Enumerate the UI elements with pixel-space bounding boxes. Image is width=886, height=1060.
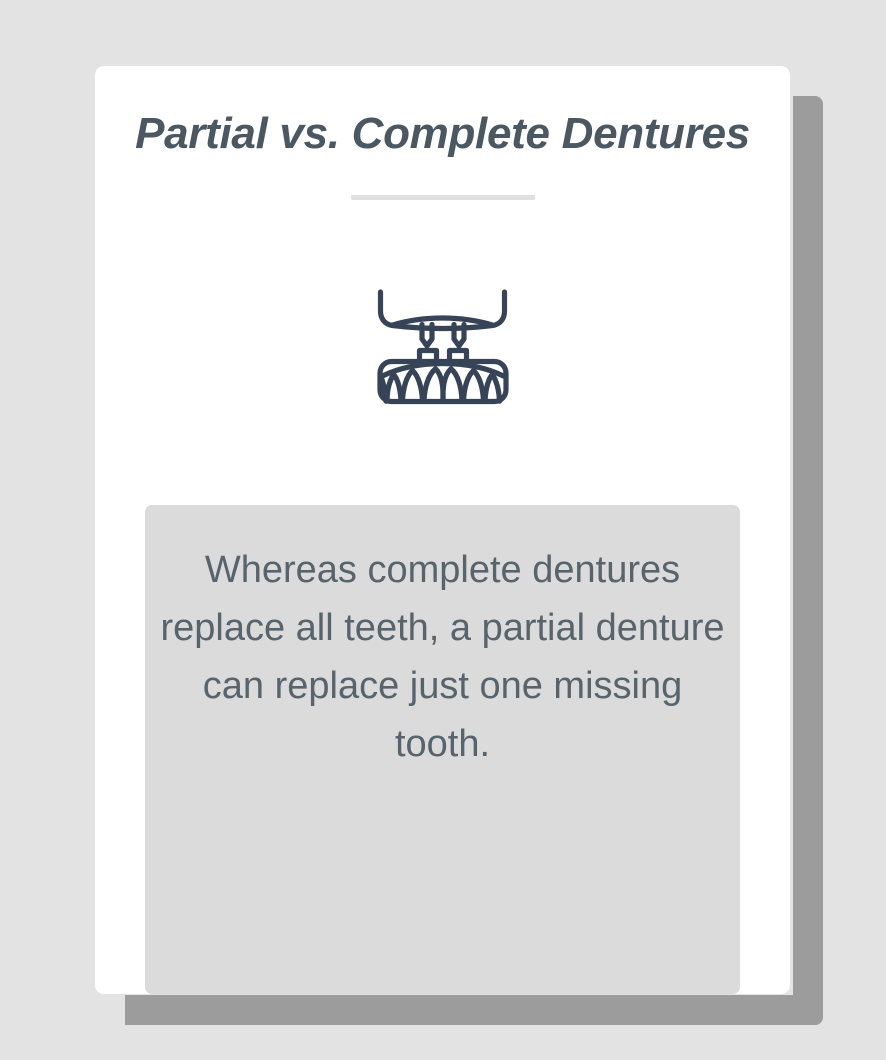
page-title: Partial vs. Complete Dentures bbox=[95, 108, 790, 160]
title-divider bbox=[351, 195, 535, 200]
body-text: Whereas complete dentures replace all te… bbox=[145, 541, 740, 773]
card-shadow-right bbox=[793, 96, 823, 1025]
card-shadow-bottom bbox=[125, 995, 823, 1025]
body-panel: Whereas complete dentures replace all te… bbox=[145, 505, 740, 994]
icon-container bbox=[95, 288, 790, 406]
content-card: Partial vs. Complete Dentures bbox=[95, 66, 790, 994]
denture-icon bbox=[375, 288, 511, 406]
slide-canvas: Partial vs. Complete Dentures bbox=[0, 0, 886, 1060]
